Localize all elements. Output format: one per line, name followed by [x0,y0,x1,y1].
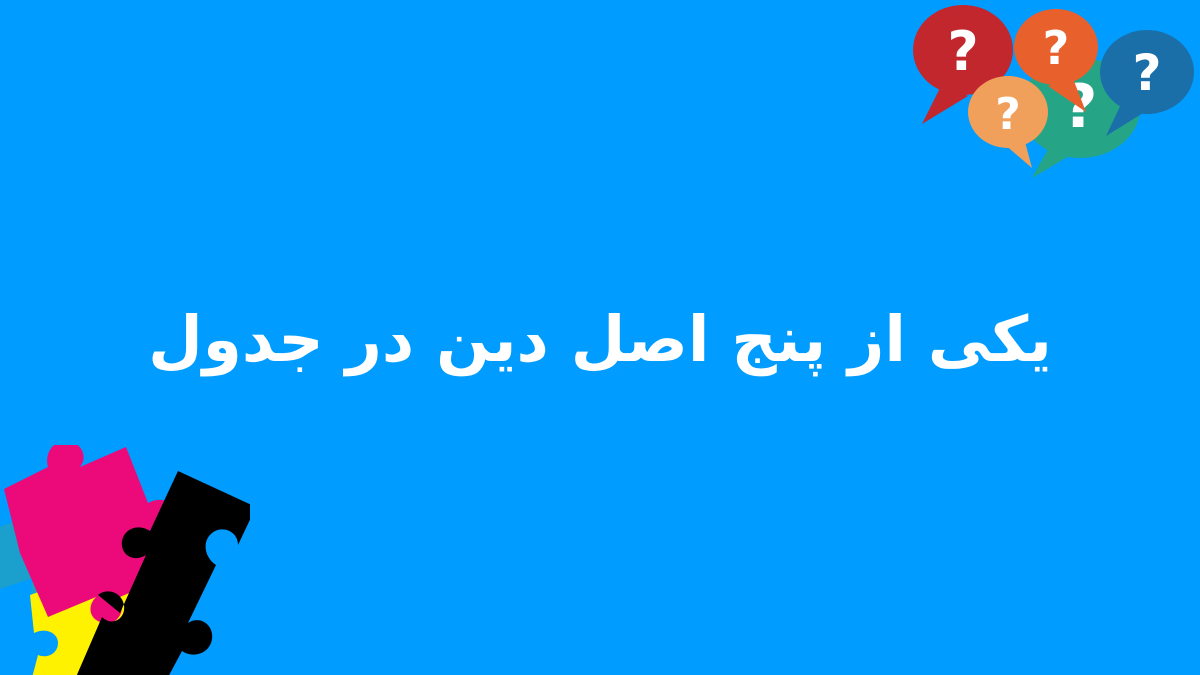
lightorange-bubble-question-mark: ? [995,89,1021,140]
puzzle-piece-cluster [0,445,250,675]
slide-canvas: ? ? ? ? [0,0,1200,675]
lightorange-question-bubble: ? [968,76,1048,168]
page-title: یکی از پنج اصل دین در جدول [148,301,1052,380]
blue-question-bubble: ? [1100,30,1194,136]
red-bubble-question-mark: ? [947,20,978,83]
speech-bubble-cluster: ? ? ? ? [900,0,1200,185]
blue-bubble-question-mark: ? [1132,44,1161,102]
orange-bubble-question-mark: ? [1043,21,1070,75]
